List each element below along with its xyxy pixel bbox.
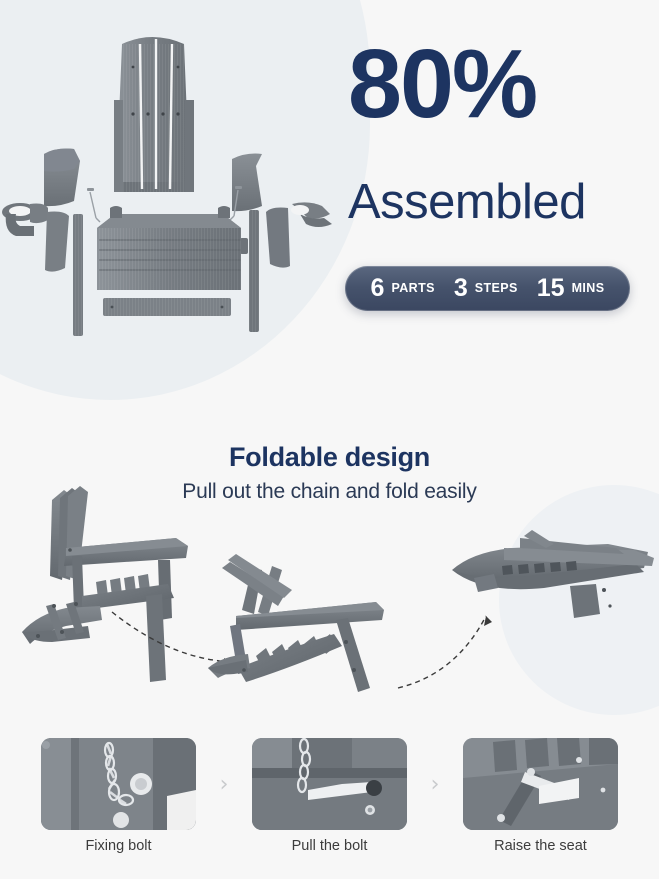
- folding-sequence-svg: [0, 400, 659, 730]
- step-caption-3: Raise the seat: [463, 838, 618, 854]
- step-chevron-1: ›: [196, 772, 252, 797]
- infographic-page: 80% Assembled 6 PARTS 3 STEPS 15 MINS Fo…: [0, 0, 659, 879]
- chair-stage-open: [22, 486, 188, 682]
- fold-arrow-2: [398, 616, 486, 688]
- part-seat: [97, 206, 241, 290]
- step-thumbnails: ›: [0, 734, 659, 834]
- part-backrest: [114, 37, 194, 192]
- chair-stage-flat: [452, 530, 654, 618]
- steps-label: STEPS: [473, 282, 532, 295]
- steps-count: 3: [454, 276, 468, 301]
- foldable-section: Foldable design Pull out the chain and f…: [0, 400, 659, 730]
- exploded-chair-diagram: [0, 22, 340, 352]
- mins-label: MINS: [570, 282, 605, 295]
- part-cupholder-left: [2, 203, 48, 236]
- part-support-right: [266, 208, 290, 268]
- percent-headline: 80%: [348, 38, 536, 130]
- part-connector-right: [240, 238, 248, 254]
- fold-arrow-2-head: [484, 616, 492, 626]
- hero-section: 80% Assembled 6 PARTS 3 STEPS 15 MINS: [0, 0, 659, 400]
- step-thumbnail-raise-seat: [463, 738, 618, 830]
- step-chevron-2: ›: [407, 772, 463, 797]
- steps-section: ›: [0, 730, 659, 879]
- step-caption-1: Fixing bolt: [41, 838, 196, 854]
- exploded-parts-svg: [0, 22, 340, 357]
- step-captions: Fixing bolt Pull the bolt Raise the seat: [0, 838, 659, 854]
- chair-stage-folding: [208, 554, 384, 692]
- assembled-label: Assembled: [348, 178, 586, 227]
- parts-label: PARTS: [389, 282, 448, 295]
- fold-arrow-1: [112, 612, 234, 662]
- part-support-left: [45, 212, 69, 272]
- parts-count: 6: [371, 276, 385, 301]
- part-cupholder-right: [291, 202, 332, 227]
- step-thumbnail-fixing-bolt: [41, 738, 196, 830]
- part-armrest-left: [44, 149, 80, 207]
- step-caption-2: Pull the bolt: [252, 838, 407, 854]
- step-thumbnail-pull-bolt: [252, 738, 407, 830]
- part-bottom-rail: [103, 298, 231, 316]
- specs-badge: 6 PARTS 3 STEPS 15 MINS: [345, 266, 630, 311]
- mins-count: 15: [537, 276, 565, 301]
